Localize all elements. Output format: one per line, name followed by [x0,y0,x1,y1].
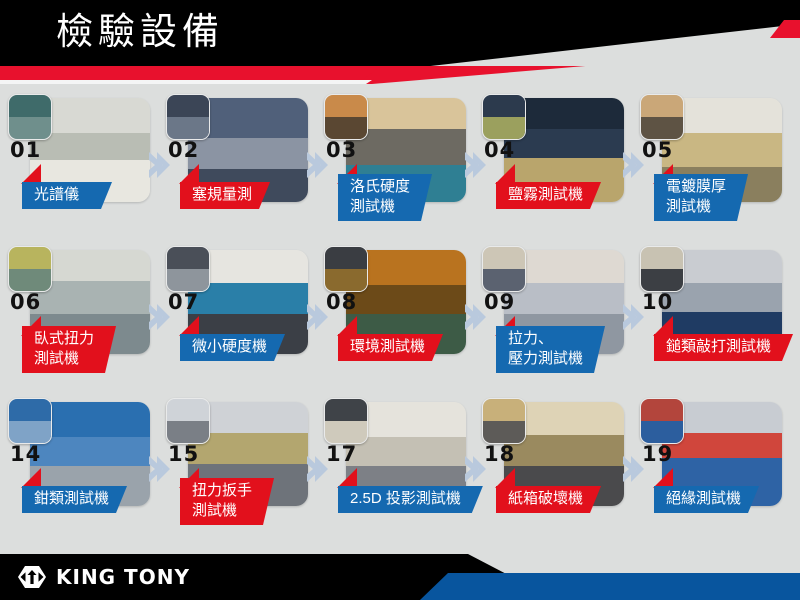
equipment-detail-thumbnail [8,246,52,292]
chevron-right-icon [622,454,644,484]
equipment-detail-thumbnail [482,398,526,444]
equipment-label: 紙箱破壞機 [496,486,601,513]
equipment-detail-thumbnail [640,246,684,292]
equipment-detail-thumbnail [324,246,368,292]
chevron-right-icon [306,454,328,484]
equipment-card[interactable]: 14鉗類測試機 [6,398,152,548]
equipment-detail-thumbnail [640,94,684,140]
chevron-right-icon [464,150,486,180]
equipment-number: 07 [168,292,199,312]
slide-footer: KING TONY [0,552,800,600]
equipment-detail-thumbnail [8,94,52,140]
equipment-detail-thumbnail [640,398,684,444]
equipment-number: 06 [10,292,41,312]
chevron-right-icon [306,150,328,180]
red-triangle-icon [179,316,201,336]
equipment-detail-thumbnail [324,398,368,444]
chevron-right-icon [148,150,170,180]
equipment-detail-thumbnail [8,398,52,444]
equipment-card[interactable]: 03洛氏硬度 測試機 [322,94,468,244]
equipment-label: 微小硬度機 [180,334,285,361]
brand-name: KING TONY [56,566,190,588]
equipment-card[interactable]: 15扭力扳手 測試機 [164,398,310,548]
equipment-label: 鉗類測試機 [22,486,127,513]
slide-header: 檢驗設備 [0,0,800,90]
equipment-card[interactable]: 02塞規量測 [164,94,310,244]
equipment-card[interactable]: 10鎚類敲打測試機 [638,246,784,396]
equipment-label: 臥式扭力 測試機 [22,326,116,373]
equipment-detail-thumbnail [166,94,210,140]
header-red-stripe-left [0,68,378,82]
equipment-label: 電鍍膜厚 測試機 [654,174,748,221]
equipment-row: 06臥式扭力 測試機07微小硬度機08環境測試機09拉力、 壓力測試機10鎚類敲… [0,246,800,396]
equipment-card[interactable]: 07微小硬度機 [164,246,310,396]
equipment-number: 03 [326,140,357,160]
equipment-detail-thumbnail [482,246,526,292]
equipment-number: 18 [484,444,515,464]
red-triangle-icon [495,164,517,184]
equipment-label: 光譜儀 [22,182,112,209]
equipment-label: 扭力扳手 測試機 [180,478,274,525]
red-triangle-icon [653,316,675,336]
equipment-label: 拉力、 壓力測試機 [496,326,605,373]
equipment-number: 10 [642,292,673,312]
chevron-right-icon [464,454,486,484]
equipment-row: 14鉗類測試機15扭力扳手 測試機172.5D 投影測試機18紙箱破壞機19絕緣… [0,398,800,548]
equipment-label: 鎚類敲打測試機 [654,334,793,361]
chevron-right-icon [622,302,644,332]
equipment-label: 2.5D 投影測試機 [338,486,483,513]
equipment-card[interactable]: 19絕緣測試機 [638,398,784,548]
equipment-label: 洛氏硬度 測試機 [338,174,432,221]
equipment-card[interactable]: 05電鍍膜厚 測試機 [638,94,784,244]
chevron-right-icon [148,302,170,332]
header-white-edge [0,80,372,84]
chevron-right-icon [148,454,170,484]
equipment-number: 04 [484,140,515,160]
equipment-card[interactable]: 06臥式扭力 測試機 [6,246,152,396]
equipment-number: 17 [326,444,357,464]
equipment-card[interactable]: 172.5D 投影測試機 [322,398,468,548]
chevron-right-icon [306,302,328,332]
equipment-number: 19 [642,444,673,464]
equipment-number: 15 [168,444,199,464]
equipment-card[interactable]: 04鹽霧測試機 [480,94,626,244]
equipment-detail-thumbnail [482,94,526,140]
king-tony-hexagon-logo-icon [18,566,46,588]
page-title: 檢驗設備 [56,6,224,58]
equipment-card[interactable]: 18紙箱破壞機 [480,398,626,548]
equipment-grid: 01光譜儀02塞規量測03洛氏硬度 測試機04鹽霧測試機05電鍍膜厚 測試機06… [0,90,800,552]
red-triangle-icon [21,468,43,488]
red-triangle-icon [337,468,359,488]
red-triangle-icon [495,468,517,488]
equipment-number: 05 [642,140,673,160]
chevron-right-icon [622,150,644,180]
red-triangle-icon [179,164,201,184]
equipment-card[interactable]: 09拉力、 壓力測試機 [480,246,626,396]
equipment-number: 14 [10,444,41,464]
equipment-label: 鹽霧測試機 [496,182,601,209]
equipment-detail-thumbnail [166,246,210,292]
red-triangle-icon [653,468,675,488]
equipment-label: 絕緣測試機 [654,486,759,513]
equipment-detail-thumbnail [166,398,210,444]
equipment-detail-thumbnail [324,94,368,140]
equipment-card[interactable]: 08環境測試機 [322,246,468,396]
equipment-card[interactable]: 01光譜儀 [6,94,152,244]
red-triangle-icon [21,164,43,184]
equipment-number: 02 [168,140,199,160]
equipment-label: 環境測試機 [338,334,443,361]
equipment-number: 09 [484,292,515,312]
chevron-right-icon [464,302,486,332]
equipment-row: 01光譜儀02塞規量測03洛氏硬度 測試機04鹽霧測試機05電鍍膜厚 測試機 [0,94,800,244]
equipment-number: 01 [10,140,41,160]
equipment-label: 塞規量測 [180,182,270,209]
equipment-number: 08 [326,292,357,312]
red-triangle-icon [337,316,359,336]
